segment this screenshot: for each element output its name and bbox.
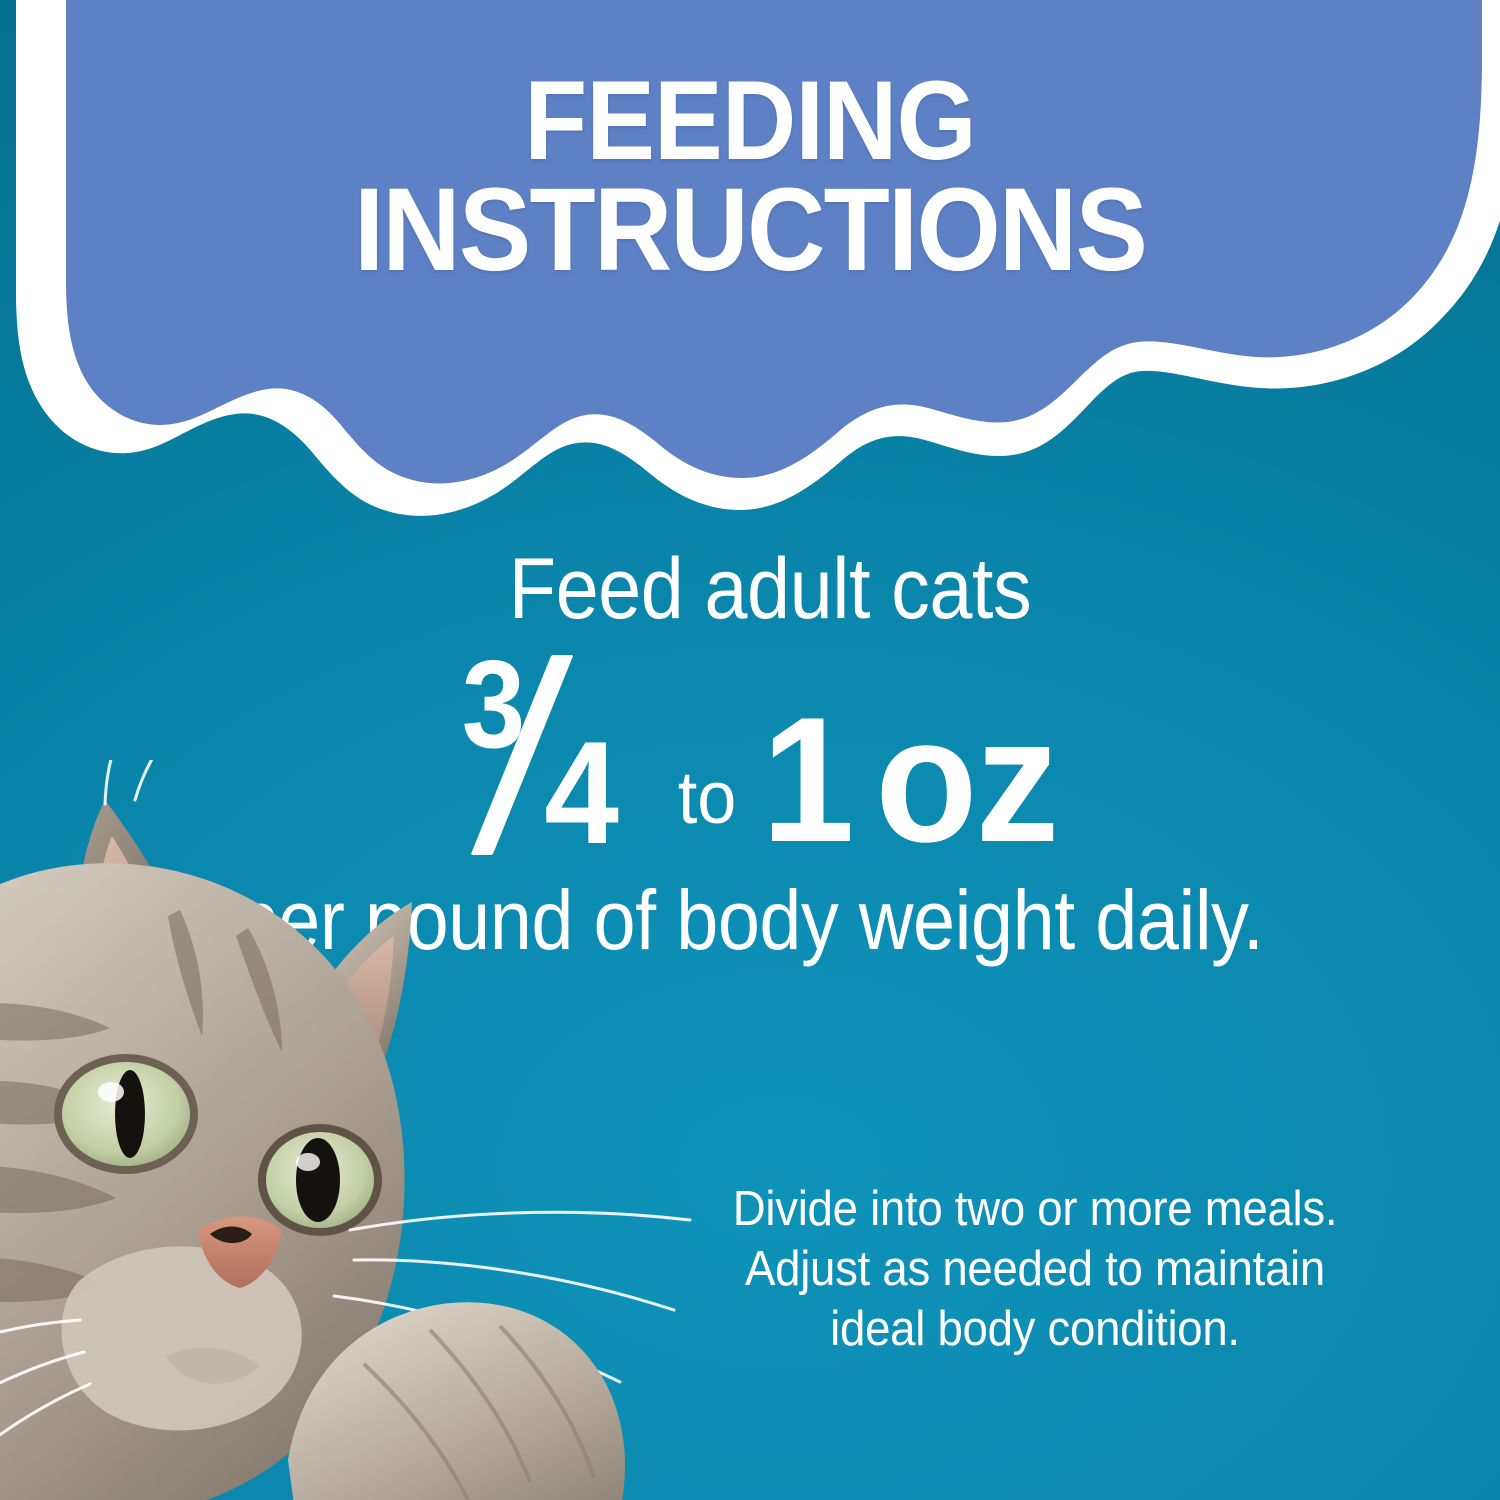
fineprint-block: Divide into two or more meals. Adjust as… (668, 1180, 1403, 1359)
amount-number: 1 (761, 680, 875, 879)
amount-upper-value: 1oz (761, 703, 1057, 858)
amount-connector: to (670, 755, 750, 858)
fineprint-line-3: ideal body condition. (668, 1300, 1403, 1360)
title-line-2: INSTRUCTIONS (60, 174, 1440, 286)
feeding-amount-row: 3 4 to 1oz (20, 643, 1500, 858)
fineprint-line-2: Adjust as needed to maintain (668, 1240, 1403, 1300)
feeding-basis-text: per pound of body weight daily. (75, 872, 1425, 969)
fraction-three-quarters: 3 4 (453, 649, 668, 864)
feeding-copy-block: Feed adult cats 3 4 to 1oz per pound of … (0, 540, 1500, 969)
page-title: FEEDING INSTRUCTIONS (60, 68, 1440, 286)
feeding-instructions-panel: FEEDING INSTRUCTIONS Feed adult cats 3 4… (0, 0, 1500, 1500)
fineprint-line-1: Divide into two or more meals. (668, 1180, 1403, 1240)
fraction-denominator: 4 (545, 720, 620, 866)
title-line-1: FEEDING (60, 68, 1440, 174)
feeding-intro-text: Feed adult cats (113, 540, 1427, 639)
amount-unit: oz (875, 680, 1057, 879)
